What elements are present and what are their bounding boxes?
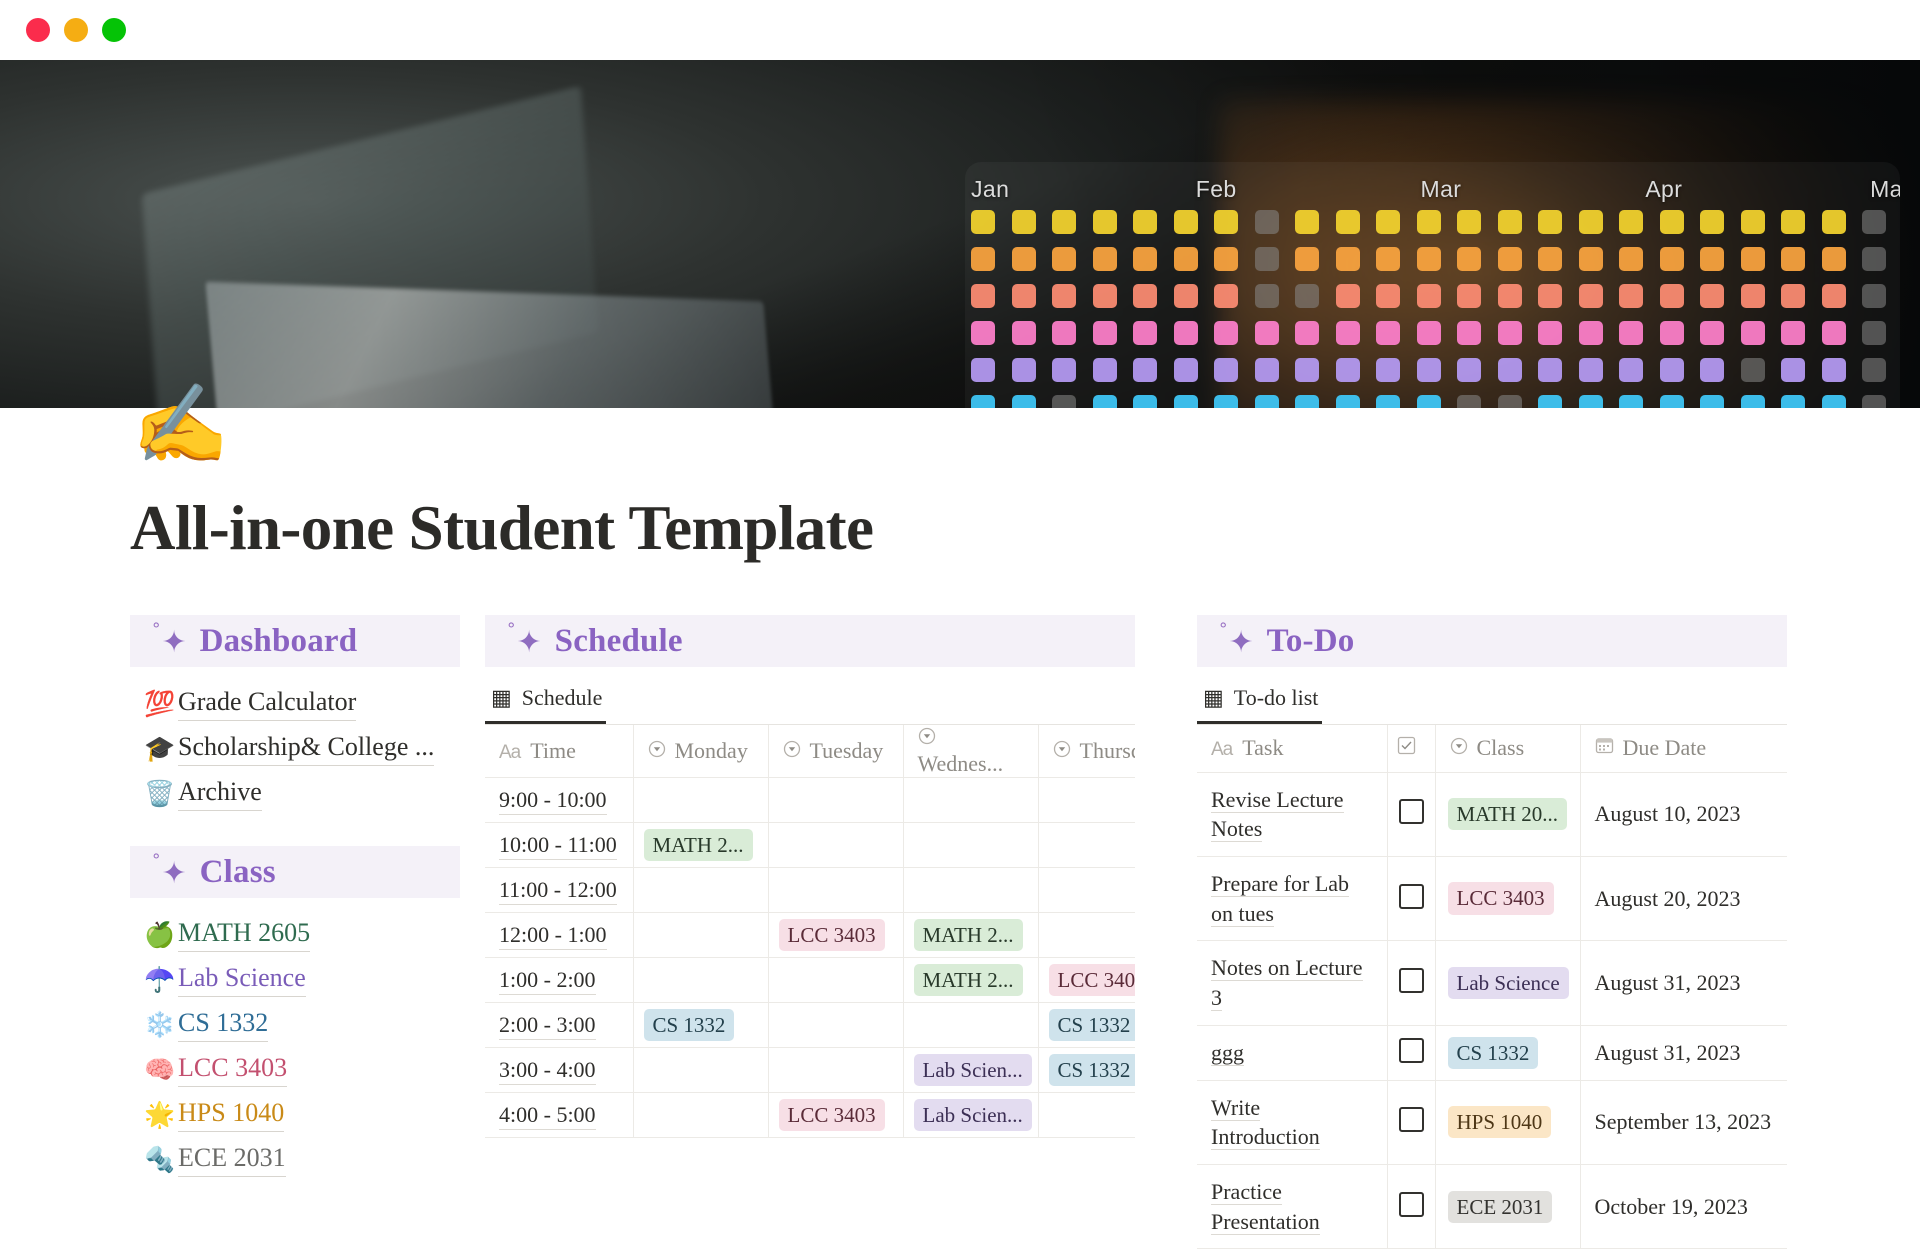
- select-icon: [1053, 742, 1071, 763]
- schedule-cell-mon[interactable]: CS 1332: [633, 1003, 768, 1048]
- month-label-row: JanFebMarAprMayJun: [965, 162, 1900, 210]
- activity-cell: [1619, 210, 1643, 234]
- schedule-cell-thu[interactable]: CS 1332: [1038, 1003, 1135, 1048]
- text-type-icon: Aa: [1211, 739, 1232, 760]
- schedule-cell-tue[interactable]: [768, 1003, 903, 1048]
- schedule-cell-tue[interactable]: [768, 778, 903, 823]
- activity-cell: [1052, 210, 1076, 234]
- link-emoji-icon: 🎓: [144, 736, 178, 761]
- schedule-row[interactable]: 10:00 - 11:00MATH 2...: [485, 823, 1135, 868]
- schedule-cell-wed[interactable]: [903, 778, 1038, 823]
- activity-cell: [1822, 358, 1846, 382]
- link-item[interactable]: ❄️CS 1332: [130, 1002, 460, 1047]
- schedule-col-header[interactable]: Monday: [633, 725, 768, 778]
- activity-cell: [1012, 358, 1036, 382]
- activity-cell: [1336, 321, 1360, 345]
- todo-col-header[interactable]: AaTask: [1197, 725, 1387, 772]
- activity-cell: [1295, 247, 1319, 271]
- schedule-row[interactable]: 12:00 - 1:00LCC 3403MATH 2...: [485, 913, 1135, 958]
- schedule-row[interactable]: 9:00 - 10:00: [485, 778, 1135, 823]
- activity-cell: [1781, 247, 1805, 271]
- todo-task-cell[interactable]: Prepare for Lab on tues: [1197, 856, 1387, 940]
- link-emoji-icon: 🌟: [144, 1102, 178, 1127]
- todo-task-label: Practice Presentation: [1211, 1179, 1320, 1235]
- section-title-class: Class: [200, 854, 276, 891]
- todo-row[interactable]: Practice PresentationECE 2031October 19,…: [1197, 1165, 1787, 1249]
- todo-due-date-cell[interactable]: August 10, 2023: [1580, 772, 1787, 856]
- activity-cell: [1093, 321, 1117, 345]
- activity-row-5: [971, 395, 1900, 408]
- todo-class-cell[interactable]: HPS 1040: [1435, 1080, 1580, 1164]
- todo-checkbox[interactable]: [1399, 1038, 1424, 1063]
- activity-cell: [1093, 395, 1117, 408]
- link-item[interactable]: 🔩ECE 2031: [130, 1137, 460, 1182]
- link-item[interactable]: 🌟HPS 1040: [130, 1092, 460, 1137]
- activity-cell: [1295, 284, 1319, 308]
- activity-cell: [1012, 247, 1036, 271]
- text-type-icon: Aa: [499, 742, 520, 763]
- schedule-cell-mon[interactable]: [633, 913, 768, 958]
- activity-cell: [1862, 321, 1886, 345]
- todo-row[interactable]: gggCS 1332August 31, 2023: [1197, 1025, 1787, 1080]
- activity-cell: [971, 284, 995, 308]
- activity-cell: [1579, 321, 1603, 345]
- activity-cell: [1619, 247, 1643, 271]
- class-pill: MATH 2...: [644, 829, 753, 861]
- class-pill: LCC 3403: [779, 919, 885, 951]
- todo-checkbox[interactable]: [1399, 1107, 1424, 1132]
- schedule-time-label: 1:00 - 2:00: [499, 967, 596, 995]
- schedule-cell-thu[interactable]: [1038, 868, 1135, 913]
- schedule-table: AaTimeMondayTuesdayWednes...Thursda 9:00…: [485, 725, 1135, 1138]
- activity-cell: [1255, 247, 1279, 271]
- activity-cell: [1700, 284, 1724, 308]
- class-link-list: 🍏MATH 2605☂️Lab Science❄️CS 1332🧠LCC 340…: [130, 912, 460, 1182]
- todo-checkbox-cell[interactable]: [1387, 1165, 1435, 1249]
- tab-todo-list[interactable]: ▦ To-do list: [1197, 667, 1322, 724]
- activity-cell: [1822, 247, 1846, 271]
- checkbox-icon: [1397, 739, 1416, 760]
- activity-cell: [971, 210, 995, 234]
- activity-cell: [1660, 395, 1684, 408]
- link-label: Grade Calculator: [178, 687, 356, 721]
- window-minimize-button[interactable]: [64, 18, 88, 42]
- todo-table: AaTaskClassDue Date Revise Lecture Notes…: [1197, 725, 1787, 1249]
- activity-row-1: [971, 247, 1900, 271]
- activity-cell: [1336, 210, 1360, 234]
- todo-row[interactable]: Prepare for Lab on tuesLCC 3403August 20…: [1197, 856, 1787, 940]
- sparkle-icon: ✦: [162, 625, 187, 660]
- link-label: LCC 3403: [178, 1053, 287, 1087]
- tab-schedule[interactable]: ▦ Schedule: [485, 667, 606, 724]
- todo-col-header[interactable]: Due Date: [1580, 725, 1787, 772]
- todo-class-cell[interactable]: ECE 2031: [1435, 1165, 1580, 1249]
- schedule-view-tabstrip: ▦ Schedule: [485, 667, 1135, 725]
- activity-cell: [1781, 395, 1805, 408]
- schedule-time-cell[interactable]: 10:00 - 11:00: [485, 823, 633, 868]
- activity-cell: [1174, 284, 1198, 308]
- activity-cell: [1862, 247, 1886, 271]
- todo-class-cell[interactable]: LCC 3403: [1435, 856, 1580, 940]
- activity-cell: [1660, 210, 1684, 234]
- activity-cell: [1336, 247, 1360, 271]
- link-label: Archive: [178, 777, 262, 811]
- activity-cell: [1174, 247, 1198, 271]
- todo-checkbox-cell[interactable]: [1387, 941, 1435, 1025]
- schedule-cell-tue[interactable]: [768, 958, 903, 1003]
- activity-cell: [1336, 284, 1360, 308]
- activity-cell: [1255, 358, 1279, 382]
- schedule-cell-mon[interactable]: [633, 1048, 768, 1093]
- activity-cell: [1538, 321, 1562, 345]
- activity-cell: [1295, 210, 1319, 234]
- activity-cell: [1862, 210, 1886, 234]
- activity-cell: [1498, 284, 1522, 308]
- link-label: MATH 2605: [178, 918, 310, 952]
- activity-cell: [1700, 358, 1724, 382]
- activity-cell: [1174, 395, 1198, 408]
- todo-task-label: ggg: [1211, 1040, 1244, 1066]
- section-header-dashboard: ° ✦ Dashboard: [130, 615, 460, 667]
- activity-cell: [1214, 284, 1238, 308]
- dashboard-link-list: 💯Grade Calculator🎓Scholarship& College .…: [130, 681, 460, 816]
- todo-task-cell[interactable]: Notes on Lecture 3: [1197, 941, 1387, 1025]
- page-icon-writing-hand[interactable]: ✍️: [132, 386, 229, 464]
- activity-cell: [1660, 284, 1684, 308]
- schedule-cell-wed[interactable]: MATH 2...: [903, 913, 1038, 958]
- todo-checkbox[interactable]: [1399, 968, 1424, 993]
- link-item[interactable]: 🧠LCC 3403: [130, 1047, 460, 1092]
- activity-cell: [1012, 284, 1036, 308]
- class-pill: LCC 3403: [1448, 882, 1554, 914]
- month-label-feb: Feb: [1196, 176, 1237, 203]
- schedule-time-label: 2:00 - 3:00: [499, 1012, 596, 1040]
- schedule-table-wrapper: AaTimeMondayTuesdayWednes...Thursda 9:00…: [485, 725, 1135, 1138]
- todo-due-date-cell[interactable]: August 31, 2023: [1580, 1025, 1787, 1080]
- schedule-row[interactable]: 3:00 - 4:00Lab Scien...CS 1332: [485, 1048, 1135, 1093]
- degree-glyph-icon: °: [152, 620, 161, 640]
- activity-cell: [1376, 321, 1400, 345]
- link-emoji-icon: 💯: [144, 691, 178, 716]
- page-columns: ° ✦ Dashboard 💯Grade Calculator🎓Scholars…: [0, 615, 1920, 1249]
- activity-cell: [971, 247, 995, 271]
- link-label: Scholarship& College ...: [178, 732, 434, 766]
- activity-cell: [1538, 284, 1562, 308]
- activity-cell: [1822, 395, 1846, 408]
- activity-cell: [1133, 395, 1157, 408]
- activity-cell: [1133, 210, 1157, 234]
- page-title: All-in-one Student Template: [130, 492, 873, 565]
- link-label: ECE 2031: [178, 1143, 286, 1177]
- link-emoji-icon: 🍏: [144, 922, 178, 947]
- schedule-cell-tue[interactable]: [768, 868, 903, 913]
- activity-cell: [1214, 210, 1238, 234]
- activity-cell: [1660, 247, 1684, 271]
- activity-cell: [1255, 284, 1279, 308]
- class-pill: ECE 2031: [1448, 1191, 1553, 1223]
- activity-cell: [1660, 321, 1684, 345]
- schedule-col-header[interactable]: Wednes...: [903, 725, 1038, 778]
- schedule-time-cell[interactable]: 12:00 - 1:00: [485, 913, 633, 958]
- todo-col-header[interactable]: [1387, 725, 1435, 772]
- schedule-cell-thu[interactable]: [1038, 823, 1135, 868]
- schedule-cell-tue[interactable]: [768, 1048, 903, 1093]
- schedule-col-label: Thursda: [1080, 738, 1136, 763]
- activity-cell: [1214, 321, 1238, 345]
- column-schedule: ° ✦ Schedule ▦ Schedule AaTimeMondayTues…: [485, 615, 1135, 1249]
- activity-cell: [1700, 210, 1724, 234]
- activity-cell: [1822, 210, 1846, 234]
- window-titlebar: [0, 0, 1920, 60]
- link-label: Lab Science: [178, 963, 306, 997]
- activity-cell: [1781, 321, 1805, 345]
- activity-cell: [1781, 358, 1805, 382]
- section-title-todo: To-Do: [1267, 623, 1355, 660]
- activity-cell: [1457, 395, 1481, 408]
- section-header-schedule: ° ✦ Schedule: [485, 615, 1135, 667]
- schedule-cell-tue[interactable]: [768, 823, 903, 868]
- todo-row[interactable]: Revise Lecture NotesMATH 20...August 10,…: [1197, 772, 1787, 856]
- schedule-body: 9:00 - 10:0010:00 - 11:00MATH 2...11:00 …: [485, 778, 1135, 1138]
- activity-cell: [1376, 284, 1400, 308]
- schedule-header-row: AaTimeMondayTuesdayWednes...Thursda: [485, 725, 1135, 778]
- schedule-col-header[interactable]: AaTime: [485, 725, 633, 778]
- select-icon: [1450, 739, 1468, 760]
- todo-view-tabstrip: ▦ To-do list: [1197, 667, 1787, 725]
- activity-cell: [1214, 358, 1238, 382]
- activity-cell: [1376, 358, 1400, 382]
- todo-due-date-cell[interactable]: September 13, 2023: [1580, 1080, 1787, 1164]
- activity-cell: [1457, 210, 1481, 234]
- activity-cell: [1093, 247, 1117, 271]
- class-pill: MATH 2...: [914, 964, 1023, 996]
- activity-cell: [1457, 247, 1481, 271]
- todo-task-cell[interactable]: ggg: [1197, 1025, 1387, 1080]
- todo-due-date-cell[interactable]: August 20, 2023: [1580, 856, 1787, 940]
- activity-cell: [1295, 358, 1319, 382]
- schedule-cell-mon[interactable]: [633, 778, 768, 823]
- schedule-time-label: 9:00 - 10:00: [499, 787, 607, 815]
- schedule-time-label: 11:00 - 12:00: [499, 877, 617, 905]
- activity-cell: [1619, 321, 1643, 345]
- column-dashboard: ° ✦ Dashboard 💯Grade Calculator🎓Scholars…: [130, 615, 460, 1249]
- laptop-base-shape: [205, 282, 774, 408]
- schedule-cell-thu[interactable]: [1038, 1093, 1135, 1138]
- schedule-cell-mon[interactable]: MATH 2...: [633, 823, 768, 868]
- section-header-todo: ° ✦ To-Do: [1197, 615, 1787, 667]
- schedule-row[interactable]: 2:00 - 3:00CS 1332CS 1332: [485, 1003, 1135, 1048]
- class-pill: CS 1332: [1049, 1054, 1136, 1086]
- schedule-cell-thu[interactable]: [1038, 778, 1135, 823]
- schedule-cell-wed[interactable]: MATH 2...: [903, 958, 1038, 1003]
- schedule-cell-tue[interactable]: LCC 3403: [768, 1093, 903, 1138]
- schedule-row[interactable]: 11:00 - 12:00: [485, 868, 1135, 913]
- activity-cell: [1457, 358, 1481, 382]
- schedule-row[interactable]: 4:00 - 5:00LCC 3403Lab Scien...: [485, 1093, 1135, 1138]
- schedule-col-label: Tuesday: [810, 738, 884, 763]
- schedule-cell-wed[interactable]: [903, 1003, 1038, 1048]
- select-icon: [783, 742, 801, 763]
- class-pill: Lab Science: [1448, 967, 1569, 999]
- activity-cell: [1052, 395, 1076, 408]
- todo-checkbox-cell[interactable]: [1387, 772, 1435, 856]
- activity-cell: [1336, 358, 1360, 382]
- activity-cell: [1093, 358, 1117, 382]
- todo-task-cell[interactable]: Revise Lecture Notes: [1197, 772, 1387, 856]
- schedule-col-header[interactable]: Thursda: [1038, 725, 1135, 778]
- window-maximize-button[interactable]: [102, 18, 126, 42]
- activity-cell: [1579, 284, 1603, 308]
- schedule-cell-thu[interactable]: LCC 3403: [1038, 958, 1135, 1003]
- schedule-time-cell[interactable]: 11:00 - 12:00: [485, 868, 633, 913]
- todo-task-cell[interactable]: Write Introduction: [1197, 1080, 1387, 1164]
- activity-cell: [1133, 358, 1157, 382]
- activity-cell: [1133, 247, 1157, 271]
- activity-cell: [1498, 321, 1522, 345]
- activity-cell: [1174, 321, 1198, 345]
- sparkle-icon: ✦: [1229, 625, 1254, 660]
- activity-cell: [1498, 210, 1522, 234]
- section-title-schedule: Schedule: [555, 623, 683, 660]
- activity-cell: [1174, 358, 1198, 382]
- link-item[interactable]: 💯Grade Calculator: [130, 681, 460, 726]
- activity-cell: [1255, 210, 1279, 234]
- table-icon: ▦: [1203, 686, 1224, 711]
- activity-cell: [1741, 210, 1765, 234]
- activity-cell: [1660, 358, 1684, 382]
- section-title-dashboard: Dashboard: [200, 623, 358, 660]
- activity-cell: [1700, 395, 1724, 408]
- link-item[interactable]: ☂️Lab Science: [130, 957, 460, 1002]
- todo-checkbox-cell[interactable]: [1387, 856, 1435, 940]
- activity-cell: [1781, 210, 1805, 234]
- activity-cell: [1538, 247, 1562, 271]
- activity-row-0: [971, 210, 1900, 234]
- schedule-cell-thu[interactable]: CS 1332: [1038, 1048, 1135, 1093]
- activity-cell: [1822, 284, 1846, 308]
- schedule-cell-wed[interactable]: Lab Scien...: [903, 1048, 1038, 1093]
- degree-glyph-icon: °: [507, 620, 516, 640]
- activity-cell: [1295, 395, 1319, 408]
- tab-todo-label: To-do list: [1234, 685, 1319, 711]
- activity-row-2: [971, 284, 1900, 308]
- activity-cell-grid: [965, 210, 1900, 408]
- todo-checkbox-cell[interactable]: [1387, 1025, 1435, 1080]
- schedule-cell-mon[interactable]: [633, 958, 768, 1003]
- activity-cell: [1133, 284, 1157, 308]
- todo-checkbox[interactable]: [1399, 884, 1424, 909]
- todo-col-label: Class: [1477, 735, 1525, 760]
- schedule-time-label: 10:00 - 11:00: [499, 832, 617, 860]
- todo-checkbox[interactable]: [1399, 1192, 1424, 1217]
- link-item[interactable]: 🍏MATH 2605: [130, 912, 460, 957]
- activity-cell: [1376, 247, 1400, 271]
- todo-row[interactable]: Notes on Lecture 3Lab ScienceAugust 31, …: [1197, 941, 1787, 1025]
- todo-col-header[interactable]: Class: [1435, 725, 1580, 772]
- todo-class-cell[interactable]: CS 1332: [1435, 1025, 1580, 1080]
- todo-due-date-cell[interactable]: October 19, 2023: [1580, 1165, 1787, 1249]
- tab-schedule-label: Schedule: [522, 685, 603, 711]
- activity-cell: [1214, 247, 1238, 271]
- column-spacer: [130, 816, 460, 846]
- activity-cell: [1417, 247, 1441, 271]
- todo-col-label: Due Date: [1623, 735, 1707, 760]
- window-close-button[interactable]: [26, 18, 50, 42]
- link-emoji-icon: 🧠: [144, 1057, 178, 1082]
- activity-cell: [1822, 321, 1846, 345]
- schedule-cell-wed[interactable]: [903, 868, 1038, 913]
- schedule-cell-wed[interactable]: [903, 823, 1038, 868]
- schedule-time-cell[interactable]: 1:00 - 2:00: [485, 958, 633, 1003]
- todo-task-label: Write Introduction: [1211, 1095, 1320, 1151]
- link-emoji-icon: ❄️: [144, 1012, 178, 1037]
- page-cover-banner[interactable]: JanFebMarAprMayJun: [0, 60, 1920, 408]
- activity-cell: [1012, 210, 1036, 234]
- schedule-cell-mon[interactable]: [633, 1093, 768, 1138]
- column-todo: ° ✦ To-Do ▦ To-do list AaTaskClassDue Da…: [1197, 615, 1787, 1249]
- activity-cell: [1417, 395, 1441, 408]
- schedule-row[interactable]: 1:00 - 2:00MATH 2...LCC 3403: [485, 958, 1135, 1003]
- schedule-time-cell[interactable]: 2:00 - 3:00: [485, 1003, 633, 1048]
- schedule-time-cell[interactable]: 4:00 - 5:00: [485, 1093, 633, 1138]
- schedule-time-label: 12:00 - 1:00: [499, 922, 607, 950]
- todo-row[interactable]: Write IntroductionHPS 1040September 13, …: [1197, 1080, 1787, 1164]
- activity-cell: [1619, 284, 1643, 308]
- class-pill: MATH 2...: [914, 919, 1023, 951]
- schedule-col-label: Time: [530, 738, 576, 763]
- calendar-icon: [1595, 739, 1614, 760]
- select-icon: [648, 742, 666, 763]
- schedule-col-header[interactable]: Tuesday: [768, 725, 903, 778]
- table-icon: ▦: [491, 686, 512, 711]
- activity-cell: [1093, 284, 1117, 308]
- todo-header-row: AaTaskClassDue Date: [1197, 725, 1787, 772]
- todo-class-cell[interactable]: Lab Science: [1435, 941, 1580, 1025]
- todo-task-label: Prepare for Lab on tues: [1211, 871, 1349, 927]
- schedule-cell-tue[interactable]: LCC 3403: [768, 913, 903, 958]
- class-pill: CS 1332: [644, 1009, 735, 1041]
- schedule-time-cell[interactable]: 3:00 - 4:00: [485, 1048, 633, 1093]
- todo-checkbox[interactable]: [1399, 799, 1424, 824]
- activity-cell: [1862, 395, 1886, 408]
- activity-cell: [971, 321, 995, 345]
- schedule-cell-wed[interactable]: Lab Scien...: [903, 1093, 1038, 1138]
- schedule-cell-thu[interactable]: [1038, 913, 1135, 958]
- schedule-cell-mon[interactable]: [633, 868, 768, 913]
- link-item[interactable]: 🗑️Archive: [130, 771, 460, 816]
- todo-task-cell[interactable]: Practice Presentation: [1197, 1165, 1387, 1249]
- todo-class-cell[interactable]: MATH 20...: [1435, 772, 1580, 856]
- activity-cell: [1741, 247, 1765, 271]
- schedule-col-label: Wednes...: [918, 751, 1004, 776]
- link-item[interactable]: 🎓Scholarship& College ...: [130, 726, 460, 771]
- todo-checkbox-cell[interactable]: [1387, 1080, 1435, 1164]
- class-pill: HPS 1040: [1448, 1106, 1552, 1138]
- activity-cell: [1133, 321, 1157, 345]
- sparkle-icon: ✦: [517, 625, 542, 660]
- link-label: HPS 1040: [178, 1098, 284, 1132]
- activity-cell: [1579, 210, 1603, 234]
- activity-cell: [1376, 395, 1400, 408]
- schedule-time-cell[interactable]: 9:00 - 10:00: [485, 778, 633, 823]
- activity-cell: [1700, 321, 1724, 345]
- year-activity-grid: JanFebMarAprMayJun: [965, 162, 1900, 408]
- degree-glyph-icon: °: [1219, 620, 1228, 640]
- activity-cell: [1255, 321, 1279, 345]
- activity-cell: [1093, 210, 1117, 234]
- class-pill: Lab Scien...: [914, 1054, 1032, 1086]
- todo-due-date-cell[interactable]: August 31, 2023: [1580, 941, 1787, 1025]
